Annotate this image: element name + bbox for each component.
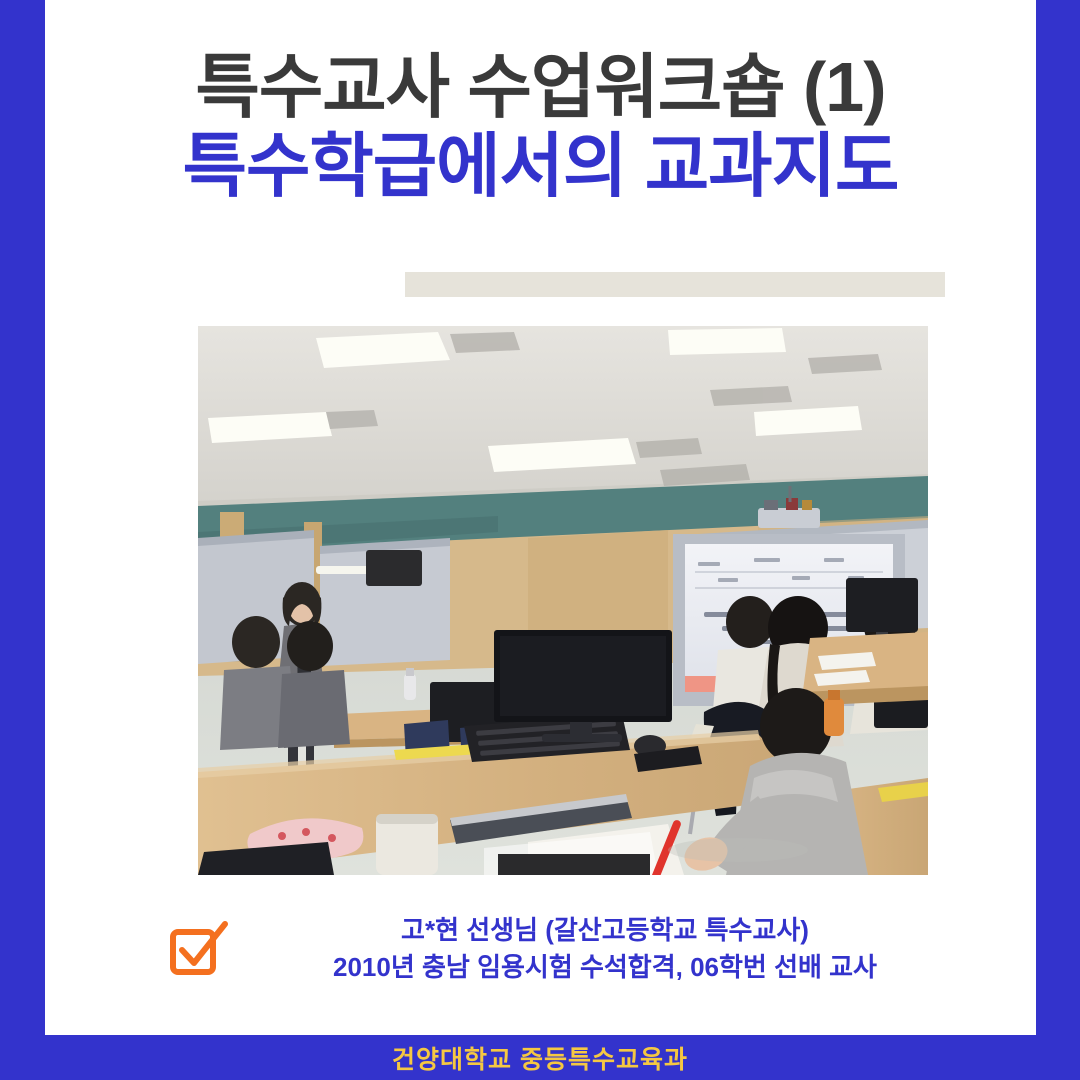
page-title-primary: 특수교사 수업워크숍 (1) <box>45 52 1036 123</box>
caption-line-detail: 2010년 충남 임용시험 수석합격, 06학번 선배 교사 <box>205 949 1005 986</box>
photo-illustration <box>198 326 928 875</box>
footer-bar: 건양대학교 중등특수교육과 <box>0 1035 1080 1080</box>
title-block: 특수교사 수업워크숍 (1) 특수학급에서의 교과지도 <box>45 52 1036 203</box>
divider-bar <box>405 272 945 297</box>
poster-card: 특수교사 수업워크숍 (1) 특수학급에서의 교과지도 <box>0 0 1080 1080</box>
workshop-photo <box>198 326 928 875</box>
caption-row: 고*현 선생님 (갈산고등학교 특수교사) 2010년 충남 임용시험 수석합격… <box>45 912 1036 1004</box>
page-title-secondary: 특수학급에서의 교과지도 <box>45 131 1036 202</box>
caption-text-block: 고*현 선생님 (갈산고등학교 특수교사) 2010년 충남 임용시험 수석합격… <box>205 912 1005 986</box>
footer-department-label: 건양대학교 중등특수교육과 <box>392 1040 688 1076</box>
poster-canvas: 특수교사 수업워크숍 (1) 특수학급에서의 교과지도 <box>45 0 1036 1035</box>
tumbler <box>376 814 438 875</box>
caption-line-speaker: 고*현 선생님 (갈산고등학교 특수교사) <box>205 912 1005 949</box>
